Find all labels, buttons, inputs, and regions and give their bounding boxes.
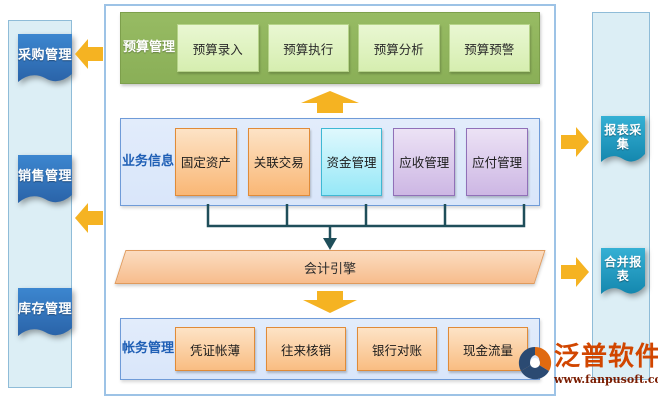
arrow-right-to-consolidated-report-icon bbox=[560, 256, 590, 288]
brand-emblem-icon bbox=[518, 346, 552, 380]
left-rail-item-sales[interactable]: 销售管理 bbox=[18, 155, 72, 207]
right-rail-item-consolidated-report[interactable]: 合并报表 bbox=[601, 248, 645, 298]
right-rail-item-label: 报表采集 bbox=[601, 124, 645, 159]
left-rail-item-label: 销售管理 bbox=[18, 170, 72, 192]
accounting-engine[interactable]: 会计引擎 bbox=[120, 250, 540, 284]
business-cell-related-transaction[interactable]: 关联交易 bbox=[248, 128, 310, 196]
accounting-engine-label: 会计引擎 bbox=[304, 258, 356, 277]
accounting-cell-settlement[interactable]: 往来核销 bbox=[266, 327, 346, 371]
arrow-up-to-budget-icon bbox=[300, 90, 360, 114]
left-rail-item-inventory[interactable]: 库存管理 bbox=[18, 288, 72, 340]
accounting-cell-cash-flow[interactable]: 现金流量 bbox=[448, 327, 528, 371]
budget-cell-analysis[interactable]: 预算分析 bbox=[358, 24, 440, 72]
accounting-cell-voucher-ledger[interactable]: 凭证帐薄 bbox=[175, 327, 255, 371]
left-rail-item-label: 库存管理 bbox=[18, 303, 72, 325]
budget-management-label: 预算管理 bbox=[121, 40, 177, 55]
business-cell-fund-management[interactable]: 资金管理 bbox=[321, 128, 383, 196]
right-rail-item-report-collection[interactable]: 报表采集 bbox=[601, 116, 645, 166]
accounting-cell-bank-reconcile[interactable]: 银行对账 bbox=[357, 327, 437, 371]
budget-cell-alert[interactable]: 预算预警 bbox=[449, 24, 531, 72]
brand-url: www.fanpusoft.com bbox=[554, 373, 658, 386]
budget-cell-entry[interactable]: 预算录入 bbox=[177, 24, 259, 72]
arrow-right-to-report-collection-icon bbox=[560, 126, 590, 158]
brand-logo: 泛普软件 www.fanpusoft.com bbox=[518, 344, 654, 394]
arrow-down-to-accounting-icon bbox=[302, 290, 358, 314]
arrow-left-to-purchase-icon bbox=[74, 38, 104, 70]
left-rail-item-purchase[interactable]: 采购管理 bbox=[18, 34, 72, 86]
business-info-label: 业务信息 bbox=[121, 154, 175, 169]
business-cell-payable[interactable]: 应付管理 bbox=[466, 128, 528, 196]
left-rail-item-label: 采购管理 bbox=[18, 49, 72, 71]
right-rail-panel bbox=[592, 12, 650, 380]
business-to-engine-connector bbox=[120, 204, 540, 252]
business-cell-receivable[interactable]: 应收管理 bbox=[393, 128, 455, 196]
brand-name: 泛普软件 bbox=[554, 344, 658, 370]
arrow-left-to-sales-icon bbox=[74, 202, 104, 234]
business-info-band: 业务信息 固定资产 关联交易 资金管理 应收管理 应付管理 bbox=[120, 118, 540, 206]
accounting-management-band: 帐务管理 凭证帐薄 往来核销 银行对账 现金流量 bbox=[120, 318, 540, 380]
right-rail-item-label: 合并报表 bbox=[601, 256, 645, 291]
budget-cell-execute[interactable]: 预算执行 bbox=[268, 24, 350, 72]
budget-management-band: 预算管理 预算录入 预算执行 预算分析 预算预警 bbox=[120, 12, 540, 84]
business-cell-fixed-assets[interactable]: 固定资产 bbox=[175, 128, 237, 196]
accounting-management-label: 帐务管理 bbox=[121, 341, 175, 356]
